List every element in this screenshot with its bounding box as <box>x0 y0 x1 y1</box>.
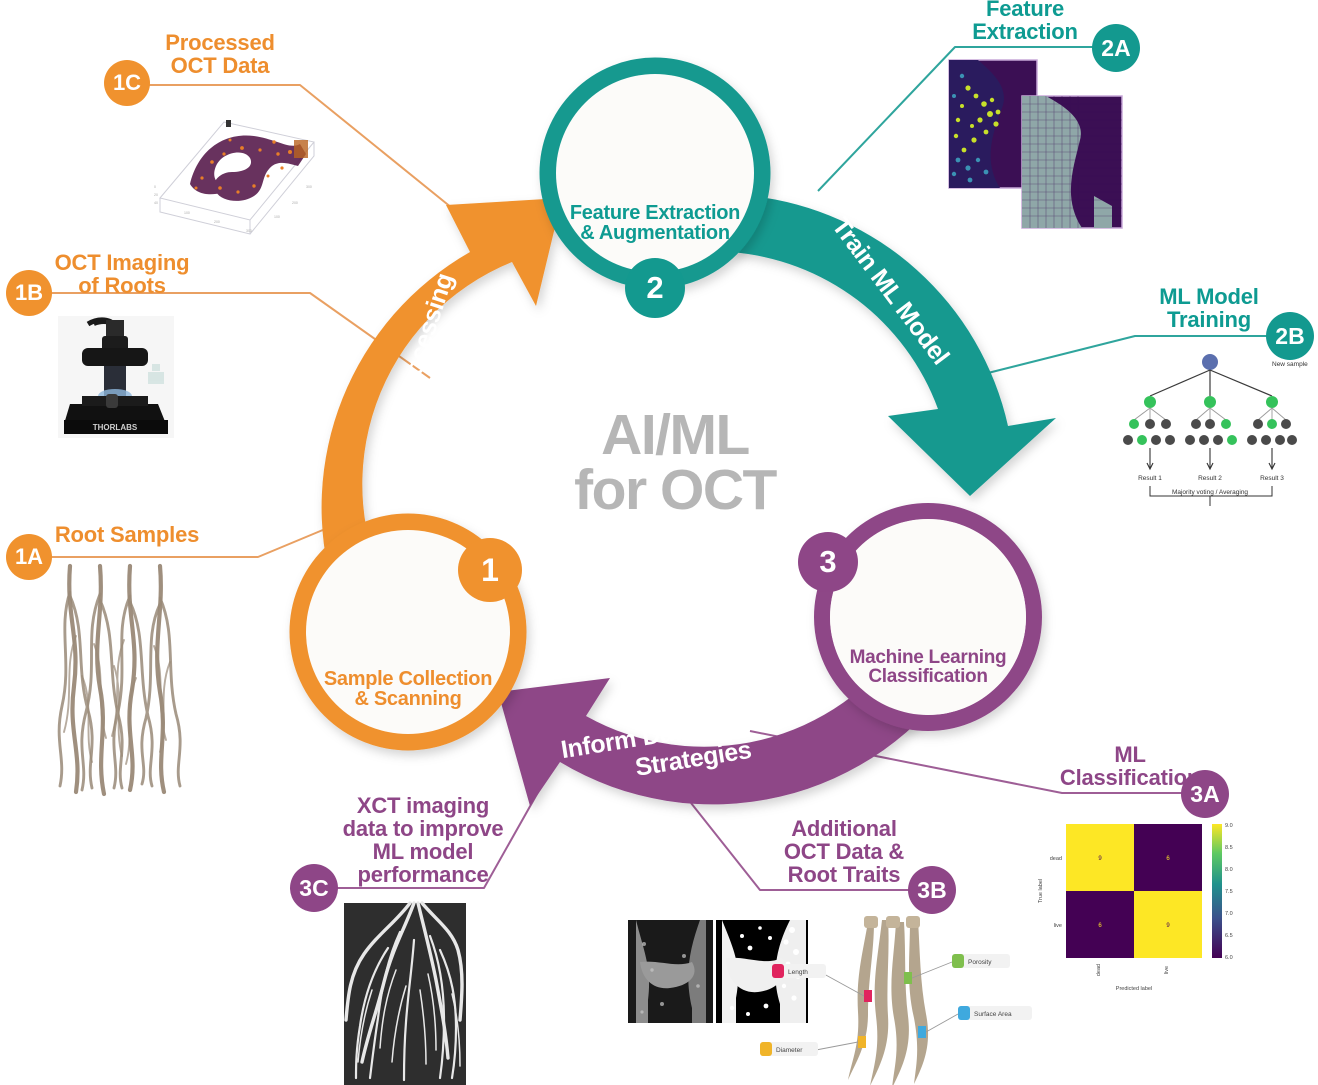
svg-text:Result 2: Result 2 <box>1198 475 1222 482</box>
random-forest-new-sample-label: New sample <box>1272 361 1308 368</box>
random-forest-aggregate-label: Majority voting / Averaging <box>1172 489 1248 496</box>
svg-text:Surface Area: Surface Area <box>974 1011 1012 1018</box>
thorlabs-oct-microscope-photo: THORLABS <box>58 316 174 438</box>
svg-text:200: 200 <box>214 220 220 224</box>
xct-root-scan <box>344 903 466 1085</box>
trait-tag-length: Length <box>772 964 826 978</box>
svg-text:100: 100 <box>274 215 280 219</box>
callout-title-1b: OCT Imaging of Roots <box>42 252 202 298</box>
svg-text:0: 0 <box>154 185 156 189</box>
svg-text:300: 300 <box>306 185 312 189</box>
svg-text:200: 200 <box>292 201 298 205</box>
node-2-label: Feature Extraction & Augmentation <box>556 203 754 244</box>
diagram-canvas: THORLABS <box>0 0 1318 1085</box>
svg-text:8.0: 8.0 <box>1225 867 1233 873</box>
svg-text:Length: Length <box>788 969 808 976</box>
callout-title-1c: Processed OCT Data <box>140 32 300 78</box>
svg-text:300: 300 <box>246 229 252 233</box>
trait-tag-diameter: Diameter <box>760 1042 818 1056</box>
page-title: AI/ML for OCT <box>545 408 805 519</box>
svg-text:6.0: 6.0 <box>1225 955 1233 961</box>
svg-text:6.5: 6.5 <box>1225 933 1233 939</box>
svg-text:live: live <box>1054 923 1062 929</box>
svg-text:20: 20 <box>154 193 158 197</box>
root-samples-illustration <box>59 566 180 794</box>
svg-text:7.0: 7.0 <box>1225 911 1233 917</box>
svg-text:Result 1: Result 1 <box>1138 475 1162 482</box>
confusion-matrix-plot: 99 66 9.08.58.0 7.57.06.5 6.0 dead live … <box>1038 823 1233 992</box>
callout-title-1a: Root Samples <box>42 524 212 547</box>
random-forest-diagram: Result 1 Result 2 Result 3 New sample Ma… <box>1123 354 1308 506</box>
leader-2b <box>964 336 1280 379</box>
random-forest-result-labels: Result 1 Result 2 Result 3 <box>1138 475 1284 482</box>
svg-text:Diameter: Diameter <box>776 1047 803 1054</box>
callout-title-2a: Feature Extraction <box>946 0 1104 44</box>
node-3-number-badge: 3 <box>798 532 858 592</box>
node-1-number-badge: 1 <box>458 538 522 602</box>
processed-oct-3d-pointcloud: 02040 100200300 100200300 <box>154 120 314 234</box>
trait-tag-surface-area: Surface Area <box>958 1006 1032 1020</box>
feature-map-pair <box>949 60 1122 228</box>
trait-tag-porosity: Porosity <box>952 954 1010 968</box>
svg-text:40: 40 <box>154 201 158 205</box>
svg-text:dead: dead <box>1096 964 1102 976</box>
svg-text:8.5: 8.5 <box>1225 845 1233 851</box>
node-ml-classification[interactable]: Machine Learning Classification <box>830 519 1026 715</box>
svg-text:live: live <box>1164 966 1170 974</box>
svg-text:Result 3: Result 3 <box>1260 475 1284 482</box>
svg-text:THORLABS: THORLABS <box>93 423 138 432</box>
callout-title-3b: Additional OCT Data & Root Traits <box>768 818 920 887</box>
node-3-label: Machine Learning Classification <box>830 648 1026 687</box>
svg-text:100: 100 <box>184 211 190 215</box>
svg-text:Porosity: Porosity <box>968 959 992 966</box>
node-feature-extraction[interactable]: Feature Extraction & Augmentation <box>556 74 754 272</box>
callout-title-3a: ML Classification <box>1050 744 1210 790</box>
svg-text:dead: dead <box>1050 856 1062 862</box>
node-1-label: Sample Collection & Scanning <box>306 669 510 710</box>
svg-text:Predicted label: Predicted label <box>1116 986 1152 992</box>
svg-text:7.5: 7.5 <box>1225 889 1233 895</box>
node-2-number-badge: 2 <box>625 258 685 318</box>
svg-text:9.0: 9.0 <box>1225 823 1233 829</box>
svg-text:True label: True label <box>1038 879 1044 903</box>
callout-title-3c: XCT imaging data to improve ML model per… <box>330 795 516 887</box>
callout-title-2b: ML Model Training <box>1134 286 1284 332</box>
